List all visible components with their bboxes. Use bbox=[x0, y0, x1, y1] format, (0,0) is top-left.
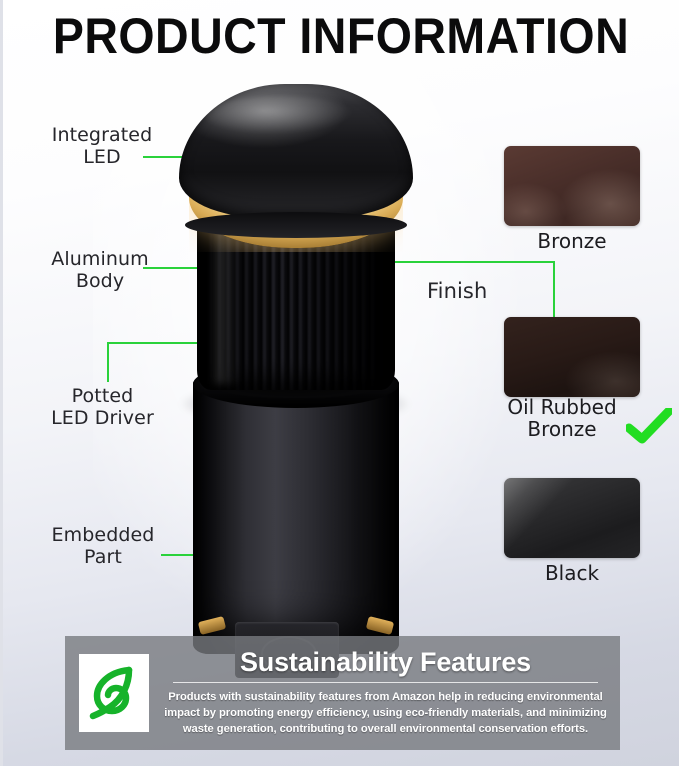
callout-label-embedded-part: Embedded Part bbox=[23, 524, 183, 569]
callout-elbow-finish bbox=[553, 261, 555, 319]
sustainability-body: Products with sustainability features fr… bbox=[161, 690, 610, 738]
embedded-sleeve bbox=[193, 376, 399, 654]
sustainability-text-block: Sustainability Features Products with su… bbox=[149, 648, 620, 738]
callout-line-finish bbox=[383, 261, 555, 263]
callout-label-finish: Finish bbox=[427, 279, 487, 304]
finish-caption-black: Black bbox=[472, 562, 672, 584]
sustainability-banner: Sustainability Features Products with su… bbox=[65, 636, 620, 750]
sustainability-divider bbox=[173, 682, 598, 683]
leaf-icon bbox=[88, 663, 140, 723]
finish-swatch-bronze[interactable] bbox=[504, 146, 640, 226]
callout-elbow-potted-led-driver bbox=[107, 342, 109, 382]
sustainability-title: Sustainability Features bbox=[161, 648, 610, 678]
dome-cap bbox=[179, 84, 413, 218]
callout-label-integrated-led: Integrated LED bbox=[27, 124, 177, 169]
page-title: PRODUCT INFORMATION bbox=[27, 10, 656, 63]
finish-swatch-black[interactable] bbox=[504, 478, 640, 558]
callout-label-aluminum-body: Aluminum Body bbox=[25, 248, 175, 293]
cap-lip-band bbox=[185, 212, 407, 238]
finish-swatch-oil-rubbed-bronze[interactable] bbox=[504, 317, 640, 397]
callout-label-potted-led-driver: Potted LED Driver bbox=[15, 385, 190, 430]
leaf-icon-box bbox=[79, 654, 149, 732]
product-illustration bbox=[171, 84, 421, 654]
finish-caption-bronze: Bronze bbox=[472, 230, 672, 252]
product-information-infographic: PRODUCT INFORMATION Integrated LED Alumi… bbox=[0, 0, 679, 766]
check-icon bbox=[626, 408, 672, 448]
